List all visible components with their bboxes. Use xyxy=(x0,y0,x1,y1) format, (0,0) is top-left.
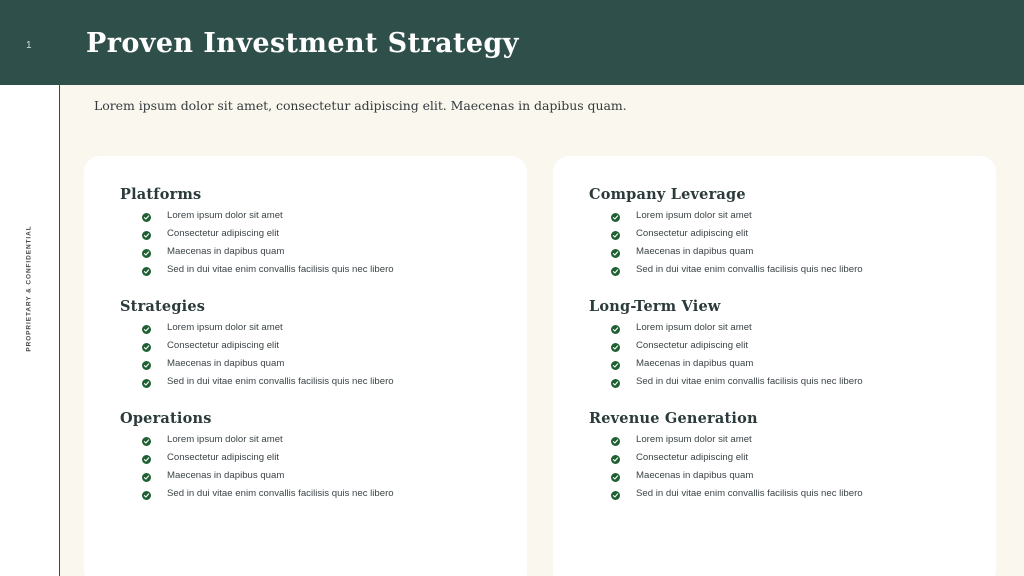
list-item: Sed in dui vitae enim convallis facilisi… xyxy=(142,264,493,276)
list-item: Consectetur adipiscing elit xyxy=(611,452,962,464)
page-title: Proven Investment Strategy xyxy=(86,28,519,59)
check-circle-icon xyxy=(611,343,620,352)
bullet-text: Consectetur adipiscing elit xyxy=(636,452,748,464)
section-title: Long-Term View xyxy=(589,298,962,315)
bullet-text: Sed in dui vitae enim convallis facilisi… xyxy=(636,376,863,388)
bullet-text: Maecenas in dapibus quam xyxy=(167,470,284,482)
check-circle-icon xyxy=(142,249,151,258)
check-circle-icon xyxy=(142,325,151,334)
list-item: Sed in dui vitae enim convallis facilisi… xyxy=(611,264,962,276)
bullet-text: Consectetur adipiscing elit xyxy=(167,228,279,240)
list-item: Lorem ipsum dolor sit amet xyxy=(142,322,493,334)
check-circle-icon xyxy=(611,361,620,370)
confidential-label: PROPRIETARY & CONFIDENTIAL xyxy=(26,225,33,351)
list-item: Sed in dui vitae enim convallis facilisi… xyxy=(611,488,962,500)
slide: PROPRIETARY & CONFIDENTIAL 1 Proven Inve… xyxy=(0,0,1024,576)
card-section: OperationsLorem ipsum dolor sit ametCons… xyxy=(120,410,493,500)
card-section: Revenue GenerationLorem ipsum dolor sit … xyxy=(589,410,962,500)
section-title: Platforms xyxy=(120,186,493,203)
bullet-text: Sed in dui vitae enim convallis facilisi… xyxy=(167,264,394,276)
section-title: Strategies xyxy=(120,298,493,315)
card-section: PlatformsLorem ipsum dolor sit ametConse… xyxy=(120,186,493,276)
bullet-list: Lorem ipsum dolor sit ametConsectetur ad… xyxy=(589,210,962,276)
bullet-list: Lorem ipsum dolor sit ametConsectetur ad… xyxy=(120,322,493,388)
check-circle-icon xyxy=(142,379,151,388)
check-circle-icon xyxy=(142,361,151,370)
check-circle-icon xyxy=(142,267,151,276)
card-section: StrategiesLorem ipsum dolor sit ametCons… xyxy=(120,298,493,388)
list-item: Consectetur adipiscing elit xyxy=(611,228,962,240)
section-title: Revenue Generation xyxy=(589,410,962,427)
bullet-text: Maecenas in dapibus quam xyxy=(167,358,284,370)
list-item: Consectetur adipiscing elit xyxy=(142,340,493,352)
check-circle-icon xyxy=(611,267,620,276)
list-item: Lorem ipsum dolor sit amet xyxy=(611,210,962,222)
list-item: Maecenas in dapibus quam xyxy=(142,358,493,370)
bullet-text: Sed in dui vitae enim convallis facilisi… xyxy=(167,376,394,388)
right-card: Company LeverageLorem ipsum dolor sit am… xyxy=(553,156,996,576)
check-circle-icon xyxy=(611,231,620,240)
lead-paragraph: Lorem ipsum dolor sit amet, consectetur … xyxy=(94,98,954,113)
slide-header: 1 Proven Investment Strategy xyxy=(0,0,1024,85)
card-section: Company LeverageLorem ipsum dolor sit am… xyxy=(589,186,962,276)
bullet-text: Lorem ipsum dolor sit amet xyxy=(636,434,752,446)
list-item: Consectetur adipiscing elit xyxy=(142,228,493,240)
bullet-text: Lorem ipsum dolor sit amet xyxy=(636,322,752,334)
bullet-text: Lorem ipsum dolor sit amet xyxy=(167,322,283,334)
check-circle-icon xyxy=(611,325,620,334)
bullet-text: Sed in dui vitae enim convallis facilisi… xyxy=(636,264,863,276)
check-circle-icon xyxy=(611,437,620,446)
bullet-text: Lorem ipsum dolor sit amet xyxy=(167,434,283,446)
list-item: Lorem ipsum dolor sit amet xyxy=(611,322,962,334)
check-circle-icon xyxy=(142,455,151,464)
bullet-text: Maecenas in dapibus quam xyxy=(167,246,284,258)
list-item: Maecenas in dapibus quam xyxy=(142,246,493,258)
list-item: Lorem ipsum dolor sit amet xyxy=(142,434,493,446)
bullet-text: Consectetur adipiscing elit xyxy=(636,340,748,352)
list-item: Sed in dui vitae enim convallis facilisi… xyxy=(611,376,962,388)
bullet-list: Lorem ipsum dolor sit ametConsectetur ad… xyxy=(120,434,493,500)
bullet-text: Maecenas in dapibus quam xyxy=(636,246,753,258)
bullet-list: Lorem ipsum dolor sit ametConsectetur ad… xyxy=(120,210,493,276)
bullet-text: Consectetur adipiscing elit xyxy=(636,228,748,240)
bullet-text: Sed in dui vitae enim convallis facilisi… xyxy=(167,488,394,500)
bullet-text: Consectetur adipiscing elit xyxy=(167,452,279,464)
list-item: Sed in dui vitae enim convallis facilisi… xyxy=(142,488,493,500)
check-circle-icon xyxy=(611,455,620,464)
list-item: Sed in dui vitae enim convallis facilisi… xyxy=(142,376,493,388)
section-title: Company Leverage xyxy=(589,186,962,203)
bullet-text: Lorem ipsum dolor sit amet xyxy=(167,210,283,222)
check-circle-icon xyxy=(611,379,620,388)
check-circle-icon xyxy=(142,231,151,240)
list-item: Maecenas in dapibus quam xyxy=(611,358,962,370)
bullet-list: Lorem ipsum dolor sit ametConsectetur ad… xyxy=(589,322,962,388)
list-item: Maecenas in dapibus quam xyxy=(611,246,962,258)
check-circle-icon xyxy=(142,213,151,222)
check-circle-icon xyxy=(142,437,151,446)
check-circle-icon xyxy=(611,473,620,482)
list-item: Consectetur adipiscing elit xyxy=(611,340,962,352)
left-card: PlatformsLorem ipsum dolor sit ametConse… xyxy=(84,156,527,576)
bullet-text: Consectetur adipiscing elit xyxy=(167,340,279,352)
check-circle-icon xyxy=(142,473,151,482)
check-circle-icon xyxy=(142,491,151,500)
check-circle-icon xyxy=(611,213,620,222)
check-circle-icon xyxy=(142,343,151,352)
page-number: 1 xyxy=(26,40,32,51)
card-section: Long-Term ViewLorem ipsum dolor sit amet… xyxy=(589,298,962,388)
list-item: Maecenas in dapibus quam xyxy=(142,470,493,482)
check-circle-icon xyxy=(611,249,620,258)
list-item: Lorem ipsum dolor sit amet xyxy=(142,210,493,222)
side-rail: PROPRIETARY & CONFIDENTIAL xyxy=(0,0,60,576)
bullet-list: Lorem ipsum dolor sit ametConsectetur ad… xyxy=(589,434,962,500)
check-circle-icon xyxy=(611,491,620,500)
cards-container: PlatformsLorem ipsum dolor sit ametConse… xyxy=(84,156,1002,576)
confidential-watermark: PROPRIETARY & CONFIDENTIAL xyxy=(0,0,59,576)
list-item: Lorem ipsum dolor sit amet xyxy=(611,434,962,446)
list-item: Maecenas in dapibus quam xyxy=(611,470,962,482)
bullet-text: Sed in dui vitae enim convallis facilisi… xyxy=(636,488,863,500)
bullet-text: Lorem ipsum dolor sit amet xyxy=(636,210,752,222)
bullet-text: Maecenas in dapibus quam xyxy=(636,470,753,482)
bullet-text: Maecenas in dapibus quam xyxy=(636,358,753,370)
list-item: Consectetur adipiscing elit xyxy=(142,452,493,464)
section-title: Operations xyxy=(120,410,493,427)
